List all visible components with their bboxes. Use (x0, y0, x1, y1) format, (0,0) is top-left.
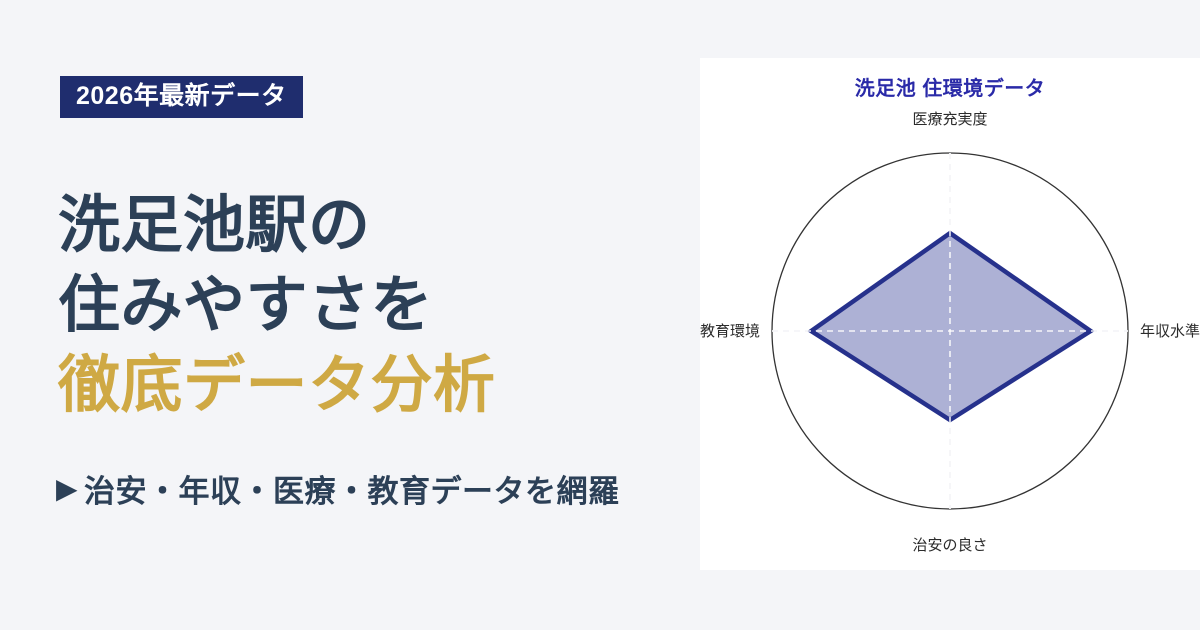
headline-line-1: 洗足池駅の (58, 186, 678, 266)
radar-chart-svg: 医療充実度 年収水準 治安の良さ 教育環境 (700, 58, 1200, 570)
poster-root: 2026年最新データ 洗足池駅の 住みやすさを 徹底データ分析 ▶ 治安・年収・… (0, 0, 1200, 630)
subtitle-text: 治安・年収・医療・教育データを網羅 (84, 466, 620, 511)
radar-data-polygon (811, 233, 1090, 420)
headline-line-3: 徹底データ分析 (58, 346, 678, 426)
date-badge: 2026年最新データ (60, 76, 303, 118)
axis-label-right: 年収水準 (1140, 323, 1200, 340)
axis-label-bottom: 治安の良さ (912, 537, 987, 554)
radar-chart-panel: 洗足池 住環境データ 医療充実度 年収水準 治安の良さ 教育環境 (700, 58, 1200, 570)
triangle-marker-icon: ▶ (56, 475, 78, 503)
subtitle: ▶ 治安・年収・医療・教育データを網羅 (56, 466, 620, 511)
page-title: 洗足池駅の 住みやすさを 徹底データ分析 (58, 186, 678, 426)
axis-label-left: 教育環境 (700, 322, 760, 340)
headline-line-2: 住みやすさを (58, 266, 678, 346)
axis-label-top: 医療充実度 (912, 111, 987, 128)
left-content-panel: 2026年最新データ 洗足池駅の 住みやすさを 徹底データ分析 ▶ 治安・年収・… (0, 0, 700, 630)
